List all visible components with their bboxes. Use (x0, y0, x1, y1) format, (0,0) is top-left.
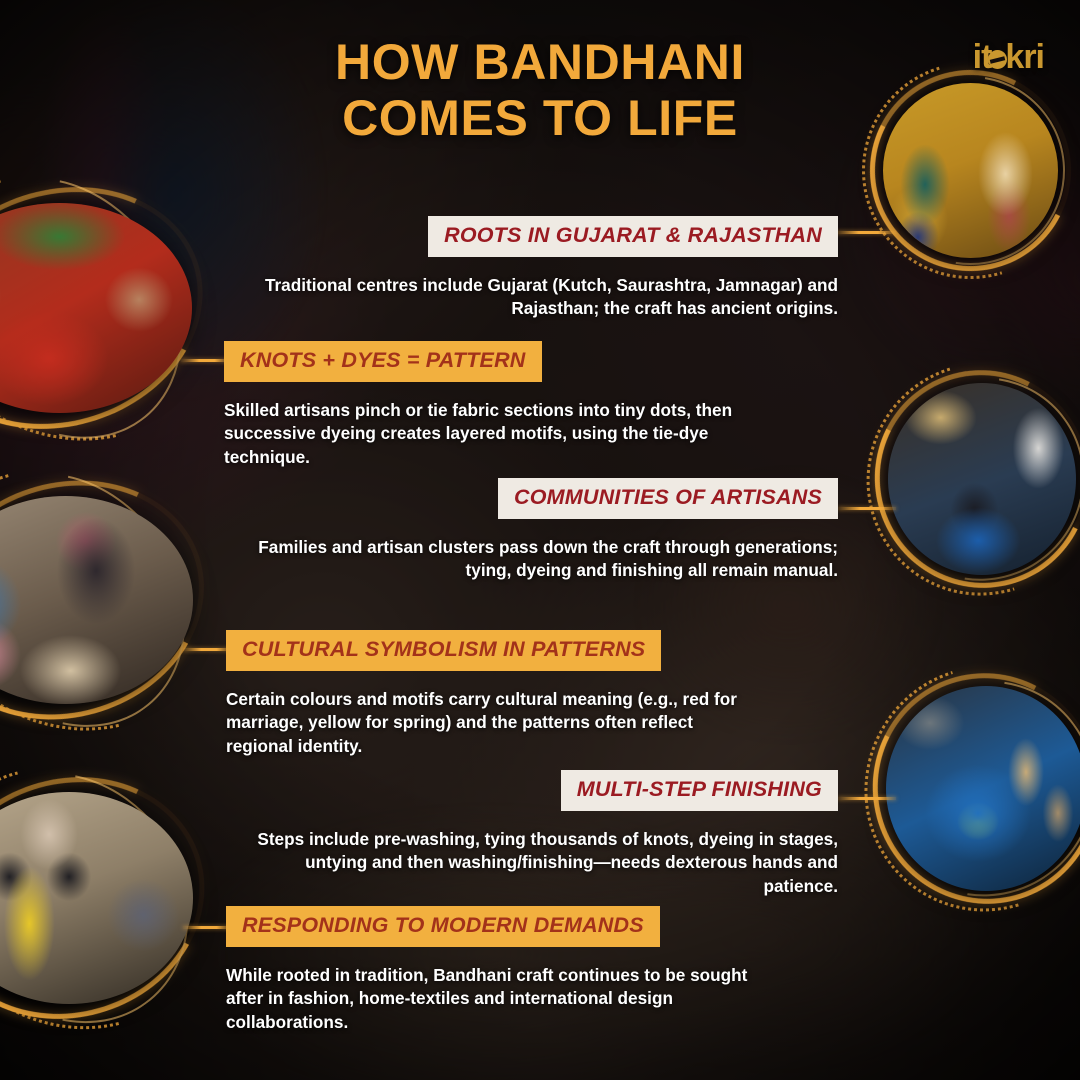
section-body: Skilled artisans pinch or tie fabric sec… (224, 399, 754, 470)
section-communities-of-artisans: COMMUNITIES OF ARTISANS Families and art… (250, 478, 838, 583)
section-tag: COMMUNITIES OF ARTISANS (498, 478, 838, 519)
photo-disc (0, 792, 193, 1004)
connector-line-2 (181, 359, 229, 362)
section-tag: KNOTS + DYES = PATTERN (224, 341, 542, 382)
logo-text-part2: kri (1005, 38, 1044, 76)
title-line-1: HOW BANDHANI (0, 34, 1080, 90)
photo-disc (0, 203, 192, 413)
section-cultural-symbolism-in-patterns: CULTURAL SYMBOLISM IN PATTERNS Certain c… (226, 630, 756, 759)
section-knots-dyes-pattern: KNOTS + DYES = PATTERN Skilled artisans … (224, 341, 754, 470)
section-body: Steps include pre-washing, tying thousan… (250, 828, 838, 899)
itokri-logo[interactable]: itkri (973, 38, 1044, 77)
section-body: Families and artisan clusters pass down … (250, 536, 838, 583)
photo-image (0, 496, 193, 704)
photo-image (888, 383, 1076, 575)
section-roots-in-gujarat-rajasthan: ROOTS IN GUJARAT & RAJASTHAN Traditional… (250, 216, 838, 321)
connector-line-1 (836, 231, 896, 234)
photo-hands-tying-red-cloth (0, 203, 192, 413)
section-tag: ROOTS IN GUJARAT & RAJASTHAN (428, 216, 838, 257)
photo-woman-with-fabric (0, 496, 193, 704)
connector-line-4 (183, 648, 231, 651)
photo-disc (0, 496, 193, 704)
photo-blue-dye-vat (886, 686, 1080, 891)
section-body: Certain colours and motifs carry cultura… (226, 688, 756, 759)
section-tag: RESPONDING TO MODERN DEMANDS (226, 906, 660, 947)
photo-image (886, 686, 1080, 891)
photo-disc (888, 383, 1076, 575)
photo-image (0, 792, 193, 1004)
connector-line-5 (838, 797, 896, 800)
connector-line-6 (183, 926, 231, 929)
section-multi-step-finishing: MULTI-STEP FINISHING Steps include pre-w… (250, 770, 838, 899)
infographic-poster: itkri HOW BANDHANI COMES TO LIFE (0, 0, 1080, 1080)
section-responding-to-modern-demands: RESPONDING TO MODERN DEMANDS While roote… (226, 906, 786, 1035)
poster-title: HOW BANDHANI COMES TO LIFE (0, 34, 1080, 146)
photo-disc (886, 686, 1080, 891)
section-tag: MULTI-STEP FINISHING (561, 770, 838, 811)
section-tag: CULTURAL SYMBOLISM IN PATTERNS (226, 630, 661, 671)
photo-yellow-dyed-fabric (0, 792, 193, 1004)
section-body: Traditional centres include Gujarat (Kut… (250, 274, 838, 321)
photo-artisan-dyeing-vat (888, 383, 1076, 575)
title-line-2: COMES TO LIFE (0, 90, 1080, 146)
section-body: While rooted in tradition, Bandhani craf… (226, 964, 786, 1035)
photo-image (0, 203, 192, 413)
connector-line-3 (838, 507, 896, 510)
